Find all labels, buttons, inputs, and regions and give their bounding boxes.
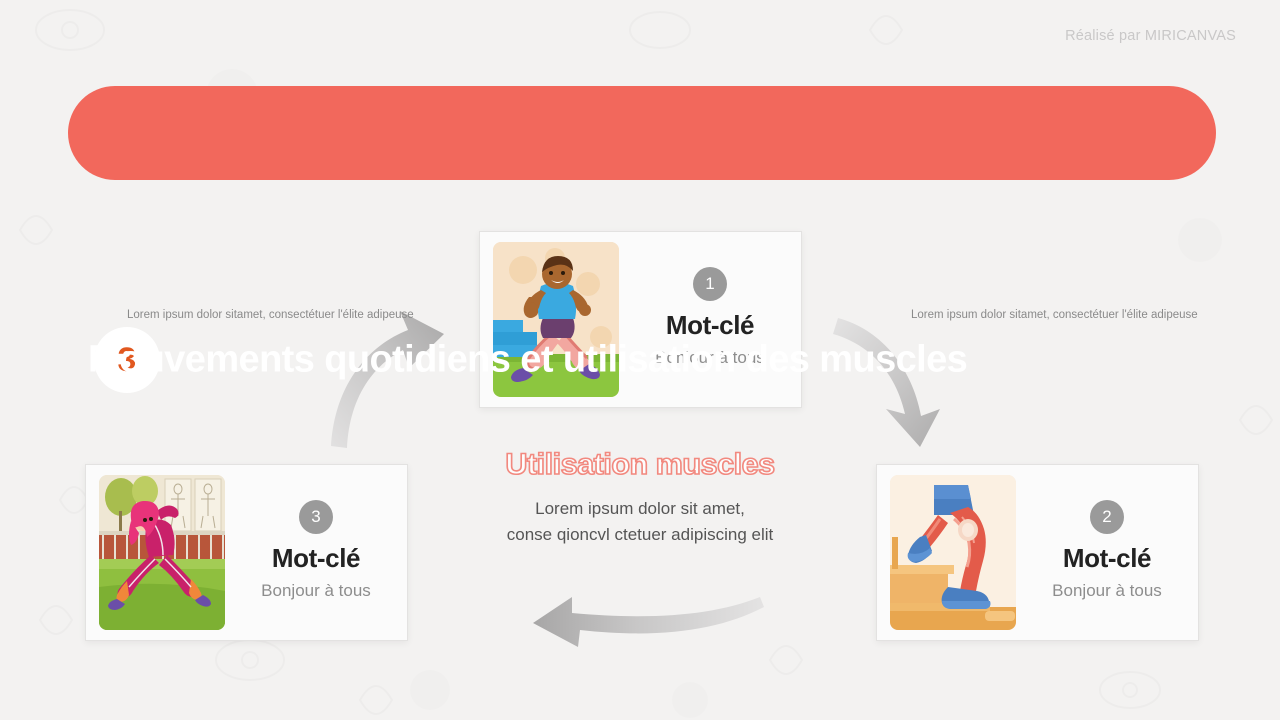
- card-2-body: 2 Mot-clé Bonjour à tous: [1016, 500, 1198, 605]
- caption-left: Lorem ipsum dolor sitamet, consectétuer …: [127, 309, 414, 321]
- card-2-subtitle: Bonjour à tous: [1052, 581, 1162, 601]
- woman-stretching-illustration: [99, 475, 225, 630]
- card-1-keyword: Mot-clé: [666, 310, 754, 341]
- center-description-line-1: Lorem ipsum dolor sit amet,: [460, 496, 820, 522]
- center-heading: Utilisation muscles: [456, 448, 823, 482]
- card-3[interactable]: 3 Mot-clé Bonjour à tous: [85, 464, 408, 641]
- center-block: Utilisation muscles Lorem ipsum dolor si…: [460, 448, 820, 548]
- leg-muscles-climbing-stairs-illustration: [890, 475, 1016, 630]
- card-1-number: 1: [693, 267, 727, 301]
- card-2-number: 2: [1090, 500, 1124, 534]
- credit-label: Réalisé par MIRICANVAS: [1065, 28, 1236, 44]
- card-3-body: 3 Mot-clé Bonjour à tous: [225, 500, 407, 605]
- center-description-line-2: conse qioncvl ctetuer adipiscing elit: [460, 522, 820, 548]
- card-3-keyword: Mot-clé: [272, 543, 360, 574]
- caption-right: Lorem ipsum dolor sitamet, consectétuer …: [911, 309, 1198, 321]
- card-3-subtitle: Bonjour à tous: [261, 581, 371, 601]
- card-2-keyword: Mot-clé: [1063, 543, 1151, 574]
- center-description: Lorem ipsum dolor sit amet, conse qioncv…: [460, 496, 820, 548]
- arrow-top-to-right-icon: [833, 318, 940, 447]
- card-2[interactable]: 2 Mot-clé Bonjour à tous: [876, 464, 1199, 641]
- arrow-right-to-left-icon: [533, 597, 764, 647]
- page-title: Mouvements quotidiens et utilisation des…: [88, 339, 967, 382]
- title-banner: [68, 86, 1216, 180]
- card-3-number: 3: [299, 500, 333, 534]
